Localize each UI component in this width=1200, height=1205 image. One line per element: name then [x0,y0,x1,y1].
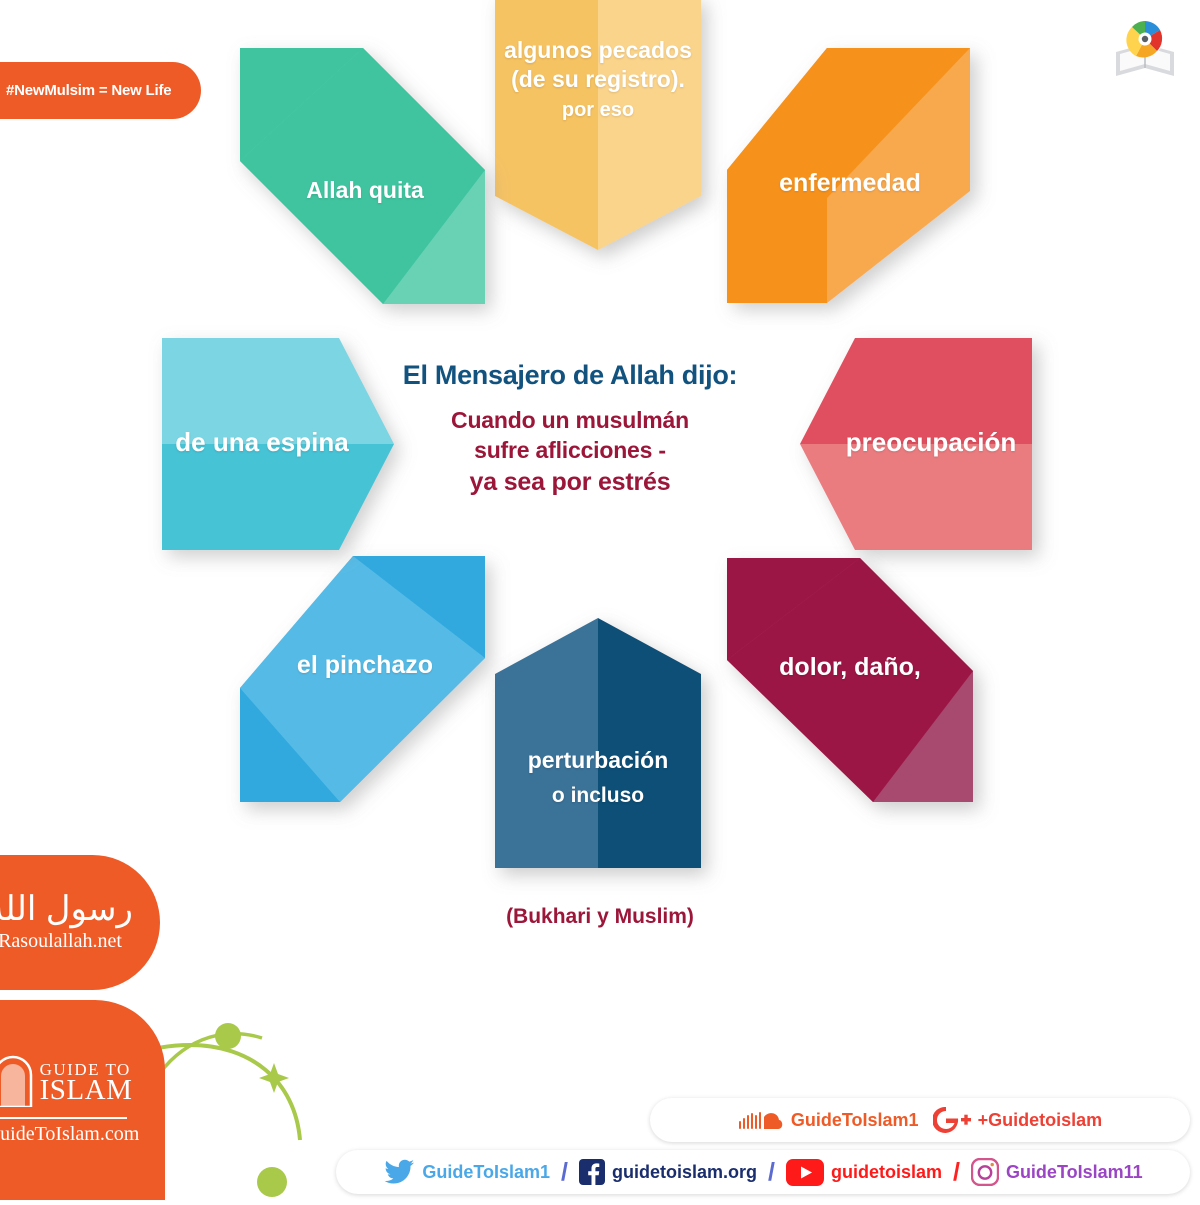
social-instagram[interactable]: GuideToIslam11 [971,1158,1143,1186]
soundcloud-icon [738,1108,784,1132]
footer-bar-bottom: GuideToIslam1 / guidetoislam.org / guide… [336,1150,1190,1194]
guide-divider [0,1117,127,1119]
source-attribution: (Bukhari y Muslim) [0,905,1200,929]
quote-line-2: sufre aflicciones - [340,435,800,465]
googleplus-icon [933,1107,971,1133]
quote-body: Cuando un musulmán sufre aflicciones - y… [340,405,800,499]
youtube-icon [786,1159,824,1186]
facebook-label: guidetoislam.org [612,1162,757,1183]
guide-to-islam-logo-panel: GUIDE TO ISLAM GuideToIslam.com [0,1000,165,1200]
twitter-label: GuideToIslam1 [422,1162,550,1183]
guide-word-2: ISLAM [40,1077,133,1104]
youtube-label: guidetoislam [831,1162,942,1183]
segment-bottom[interactable]: perturbación o incluso [495,618,701,868]
separator-2: / [768,1158,775,1187]
rasoulallah-caption: Rasoulallah.net [0,930,122,953]
center-quote: El Mensajero de Allah dijo: Cuando un mu… [340,360,800,499]
infographic-canvas: #NewMulsim = New Life [0,0,1200,1200]
quote-line-1: Cuando un musulmán [340,405,800,435]
social-soundcloud[interactable]: GuideToIslam1 [738,1108,919,1132]
separator-3: / [953,1158,960,1187]
guide-caption: GuideToIslam.com [0,1123,139,1146]
separator-1: / [561,1158,568,1187]
guide-to-islam-book-globe-logo [1112,18,1178,80]
segment-bottom-right[interactable]: dolor, daño, [705,540,995,830]
footer-bar-top: GuideToIslam1 +Guidetoislam [650,1098,1190,1142]
googleplus-label: +Guidetoislam [978,1110,1103,1131]
quote-line-3: ya sea por estrés [340,466,800,499]
instagram-label: GuideToIslam11 [1006,1162,1143,1183]
social-googleplus[interactable]: +Guidetoislam [933,1107,1103,1133]
soundcloud-label: GuideToIslam1 [791,1110,919,1131]
hashtag-badge: #NewMulsim = New Life [0,62,201,119]
social-facebook[interactable]: guidetoislam.org [579,1159,757,1185]
segment-right[interactable]: preocupación [800,338,1032,550]
social-youtube[interactable]: guidetoislam [786,1159,942,1186]
quote-title: El Mensajero de Allah dijo: [340,360,800,391]
hashtag-badge-label: #NewMulsim = New Life [6,82,171,99]
twitter-icon [383,1159,415,1185]
mosque-arch-icon [0,1055,33,1112]
segment-top-right[interactable]: enfermedad [705,48,995,338]
segment-top[interactable]: algunos pecados (de su registro). por es… [495,0,701,250]
segment-top-left[interactable]: Allah quita [220,48,510,338]
facebook-icon [579,1159,605,1185]
segment-bottom-left[interactable]: el pinchazo [220,540,510,830]
instagram-icon [971,1158,999,1186]
social-twitter[interactable]: GuideToIslam1 [383,1159,550,1185]
